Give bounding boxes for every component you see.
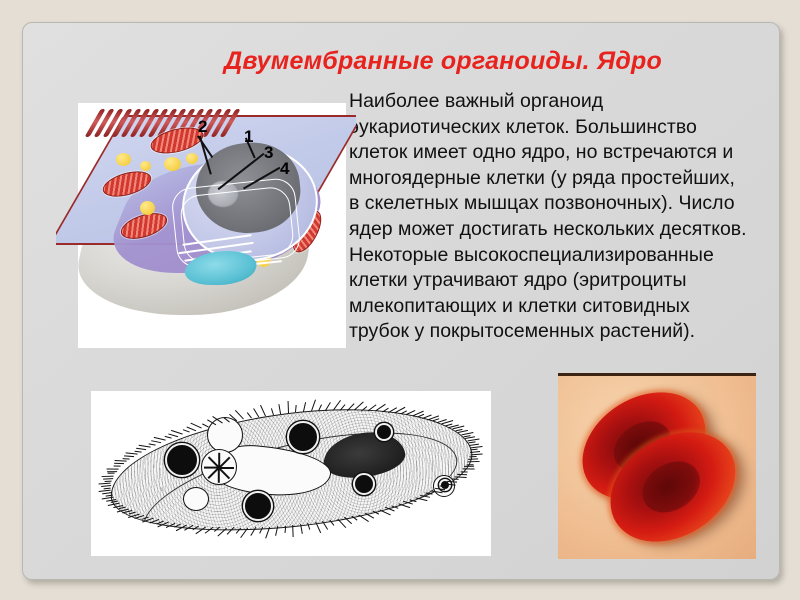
cilium <box>108 473 115 474</box>
vesicle <box>116 153 131 166</box>
paramecium-illustration <box>91 391 491 556</box>
cilium <box>134 450 141 452</box>
cell-diagram-figure: 2 1 3 4 <box>56 101 356 351</box>
food-vacuole <box>353 473 375 495</box>
cilium <box>260 404 266 415</box>
cilium <box>284 526 286 533</box>
cilium <box>101 475 113 477</box>
paramecium-figure <box>91 391 491 556</box>
cilium <box>124 455 134 457</box>
cilium <box>287 401 289 413</box>
cilium <box>107 470 117 471</box>
cilium <box>468 461 480 463</box>
cilium <box>114 465 121 466</box>
cilium <box>246 412 251 418</box>
cilium <box>470 446 482 449</box>
cilium <box>114 463 124 464</box>
cilium <box>136 447 146 449</box>
cell-label-4: 4 <box>280 159 289 179</box>
cilium <box>457 474 467 475</box>
slide-content: Двумембранные органоиды. Ядро Наиболее в… <box>23 23 779 579</box>
cilium <box>125 452 137 454</box>
slide-stage: Двумембранные органоиды. Ядро Наиболее в… <box>0 0 800 600</box>
cilium <box>279 404 282 414</box>
cilium <box>182 429 189 433</box>
cilium <box>469 459 479 461</box>
slide-body-text: Наиболее важный органоид эукариотических… <box>349 89 749 345</box>
erythrocyte-dimple <box>633 451 709 522</box>
cell-label-3: 3 <box>264 143 273 163</box>
cilium <box>115 460 127 462</box>
food-vacuole <box>243 491 273 521</box>
cell-illustration: 2 1 3 4 <box>78 103 346 348</box>
cilium <box>103 478 113 480</box>
vesicle <box>140 161 151 171</box>
presentation-slide: Двумембранные органоиды. Ядро Наиболее в… <box>22 22 780 580</box>
cilium <box>139 444 151 447</box>
cilium <box>271 408 274 415</box>
vesicle <box>140 201 155 215</box>
cilium <box>148 443 155 445</box>
cilium <box>123 458 130 460</box>
vesicle <box>164 157 181 171</box>
cilium <box>202 423 209 427</box>
erythrocytes-figure <box>558 373 756 559</box>
cilium <box>107 468 119 469</box>
slide-title: Двумембранные органоиды. Ядро <box>163 47 723 76</box>
cell-label-1: 1 <box>244 127 253 147</box>
food-vacuole <box>165 443 199 477</box>
cilium <box>104 480 111 482</box>
cell-label-2: 2 <box>198 117 207 137</box>
contractile-vacuole <box>183 487 209 511</box>
vesicle <box>186 153 198 164</box>
cilium <box>235 410 244 420</box>
cell-diagram-image: 2 1 3 4 <box>78 103 346 348</box>
food-vacuole <box>287 421 319 453</box>
cilium <box>460 471 467 472</box>
cilium <box>164 436 171 439</box>
radiating-vacuole <box>201 449 237 485</box>
cilium <box>253 408 259 417</box>
cilium <box>415 497 427 501</box>
cilium <box>151 440 161 443</box>
food-vacuole <box>375 423 393 441</box>
